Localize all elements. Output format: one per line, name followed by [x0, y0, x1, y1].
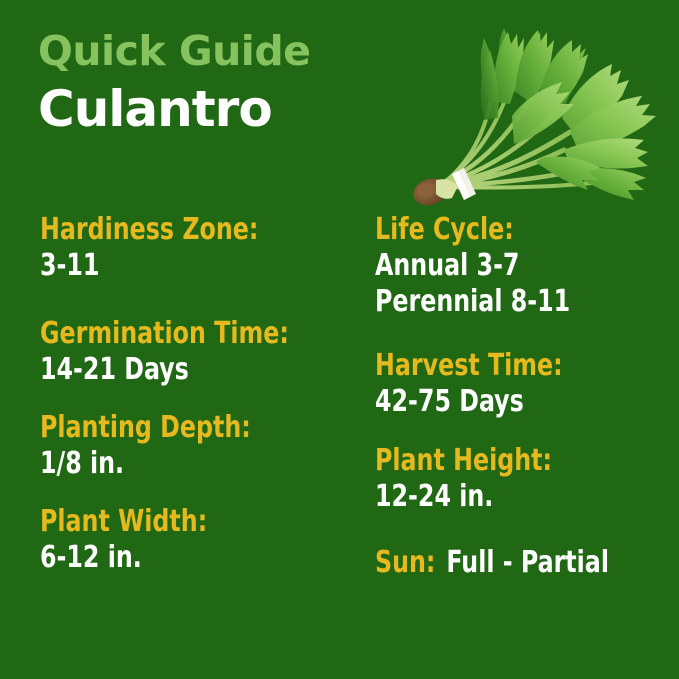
- fact-value: Annual 3-7: [375, 248, 635, 284]
- fact-label: Planting Depth:: [40, 410, 320, 446]
- fact-germination-time: Germination Time: 14-21 Days: [40, 316, 358, 388]
- fact-value: 1/8 in.: [40, 446, 320, 482]
- quick-guide-card: Quick Guide Culantro: [0, 0, 679, 679]
- fact-label: Life Cycle:: [375, 212, 635, 248]
- facts-column-right: Life Cycle: Annual 3-7 Perennial 8-11 Ha…: [375, 212, 670, 581]
- fact-planting-depth: Planting Depth: 1/8 in.: [40, 410, 358, 482]
- fact-plant-height: Plant Height: 12-24 in.: [375, 443, 670, 515]
- fact-hardiness-zone: Hardiness Zone: 3-11: [40, 212, 358, 284]
- fact-value: 12-24 in.: [375, 479, 635, 515]
- fact-label: Hardiness Zone:: [40, 212, 320, 248]
- fact-sun: Sun: Full - Partial: [375, 545, 635, 581]
- fact-value-secondary: Perennial 8-11: [375, 284, 635, 320]
- culantro-plant-illustration: [392, 8, 674, 220]
- facts-column-left: Hardiness Zone: 3-11 Germination Time: 1…: [40, 212, 358, 576]
- fact-value: 42-75 Days: [375, 384, 635, 420]
- fact-label: Harvest Time:: [375, 348, 635, 384]
- fact-value: 6-12 in.: [40, 540, 320, 576]
- fact-harvest-time: Harvest Time: 42-75 Days: [375, 348, 670, 420]
- fact-label: Plant Width:: [40, 504, 320, 540]
- fact-label: Sun:: [375, 545, 435, 580]
- fact-label: Plant Height:: [375, 443, 635, 479]
- title-block: Quick Guide Culantro: [38, 28, 398, 138]
- fact-value: 3-11: [40, 248, 320, 284]
- kicker-text: Quick Guide: [38, 28, 398, 74]
- fact-life-cycle: Life Cycle: Annual 3-7 Perennial 8-11: [375, 212, 670, 320]
- fact-label: Germination Time:: [40, 316, 320, 352]
- fact-value: 14-21 Days: [40, 352, 320, 388]
- fact-value: Full - Partial: [446, 545, 609, 580]
- page-title: Culantro: [38, 80, 398, 138]
- fact-plant-width: Plant Width: 6-12 in.: [40, 504, 358, 576]
